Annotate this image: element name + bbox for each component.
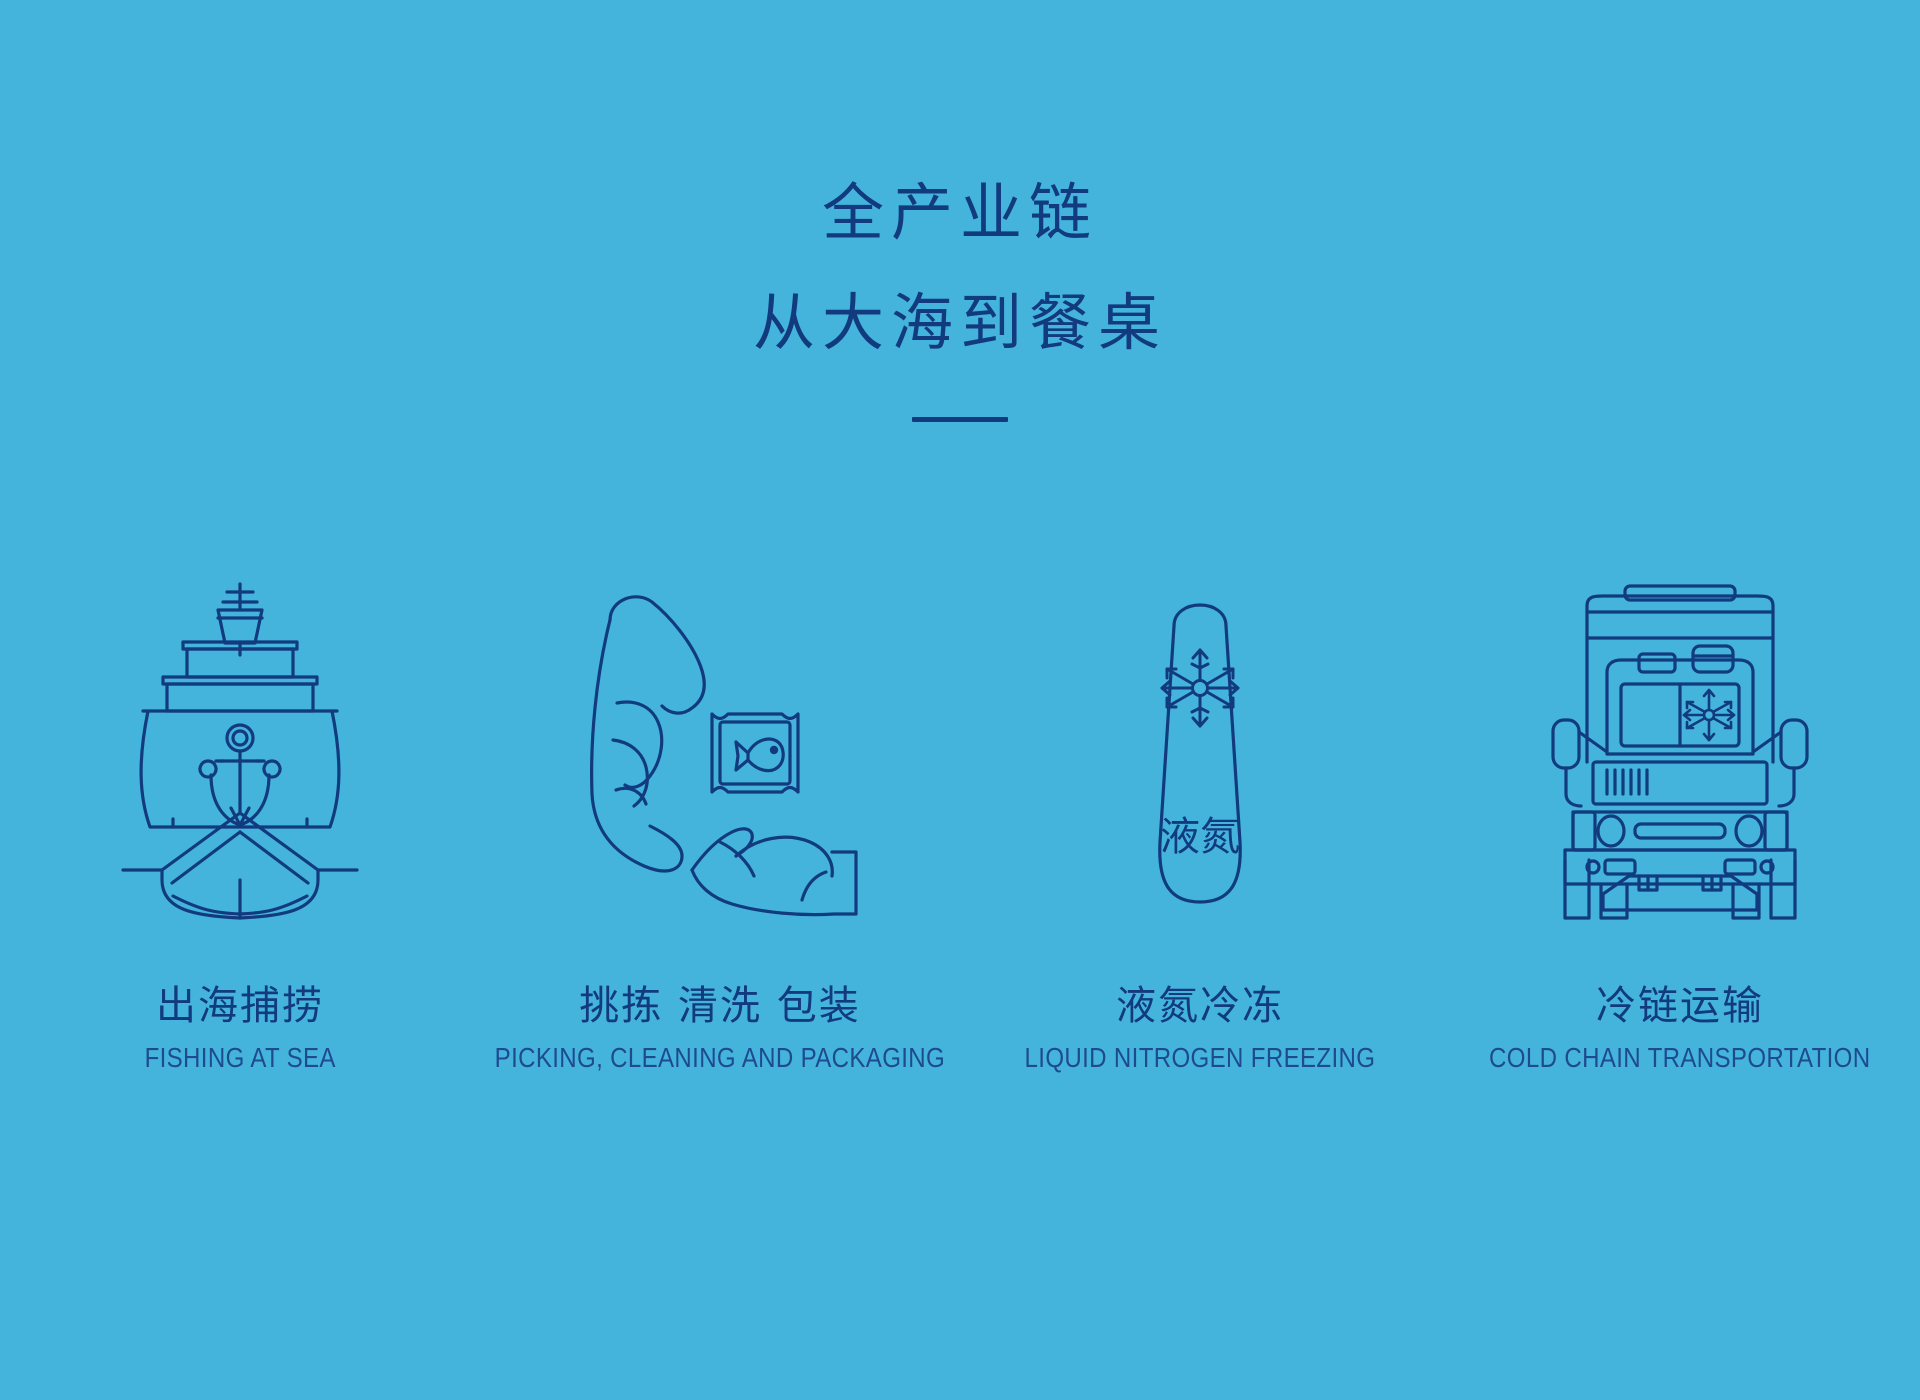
step-labels: 液氮冷冻 LIQUID NITROGEN FREEZING <box>996 984 1404 1074</box>
step-label-en: PICKING, CLEANING AND PACKAGING <box>495 1042 945 1074</box>
step-icon-container <box>570 540 870 920</box>
step-labels: 挑拣 清洗 包装 PICKING, CLEANING AND PACKAGING <box>458 984 982 1074</box>
refrigerated-truck-icon <box>1545 580 1815 920</box>
tank-text: 液氮 <box>1160 814 1240 860</box>
step-icon-container <box>1545 540 1815 920</box>
step-label-en: COLD CHAIN TRANSPORTATION <box>1489 1042 1870 1074</box>
step-liquid-nitrogen-freezing[interactable]: 液氮 液氮冷冻 LIQUID NITROGEN FREEZING <box>960 540 1440 1074</box>
step-labels: 出海捕捞 FISHING AT SEA <box>129 984 351 1074</box>
step-label-en: LIQUID NITROGEN FREEZING <box>1025 1042 1376 1074</box>
step-fishing-at-sea[interactable]: 出海捕捞 FISHING AT SEA <box>0 540 480 1074</box>
page-title-primary: 全产业链 <box>0 182 1920 244</box>
title-divider <box>912 417 1008 422</box>
process-steps: 出海捕捞 FISHING AT SEA <box>0 540 1920 1074</box>
page-title-secondary: 从大海到餐桌 <box>0 292 1920 354</box>
step-label-cn: 挑拣 清洗 包装 <box>458 984 982 1028</box>
fishing-boat-icon <box>115 580 365 920</box>
liquid-nitrogen-tank-icon: 液氮 <box>1130 580 1270 920</box>
step-icon-container <box>115 540 365 920</box>
step-picking-cleaning-packaging[interactable]: 挑拣 清洗 包装 PICKING, CLEANING AND PACKAGING <box>480 540 960 1074</box>
hands-fish-package-icon <box>570 580 870 920</box>
snowflake-icon <box>1684 690 1734 740</box>
step-label-en: FISHING AT SEA <box>144 1042 335 1074</box>
step-icon-container: 液氮 <box>1130 540 1270 920</box>
step-label-cn: 出海捕捞 <box>129 984 351 1028</box>
infographic-page: 全产业链 从大海到餐桌 <box>0 0 1920 1400</box>
step-cold-chain-transportation[interactable]: 冷链运输 COLD CHAIN TRANSPORTATION <box>1440 540 1920 1074</box>
step-label-cn: 液氮冷冻 <box>996 984 1404 1028</box>
snowflake-icon <box>1162 650 1238 726</box>
page-header: 全产业链 从大海到餐桌 <box>0 0 1920 422</box>
step-label-cn: 冷链运输 <box>1458 984 1902 1028</box>
step-labels: 冷链运输 COLD CHAIN TRANSPORTATION <box>1458 984 1902 1074</box>
